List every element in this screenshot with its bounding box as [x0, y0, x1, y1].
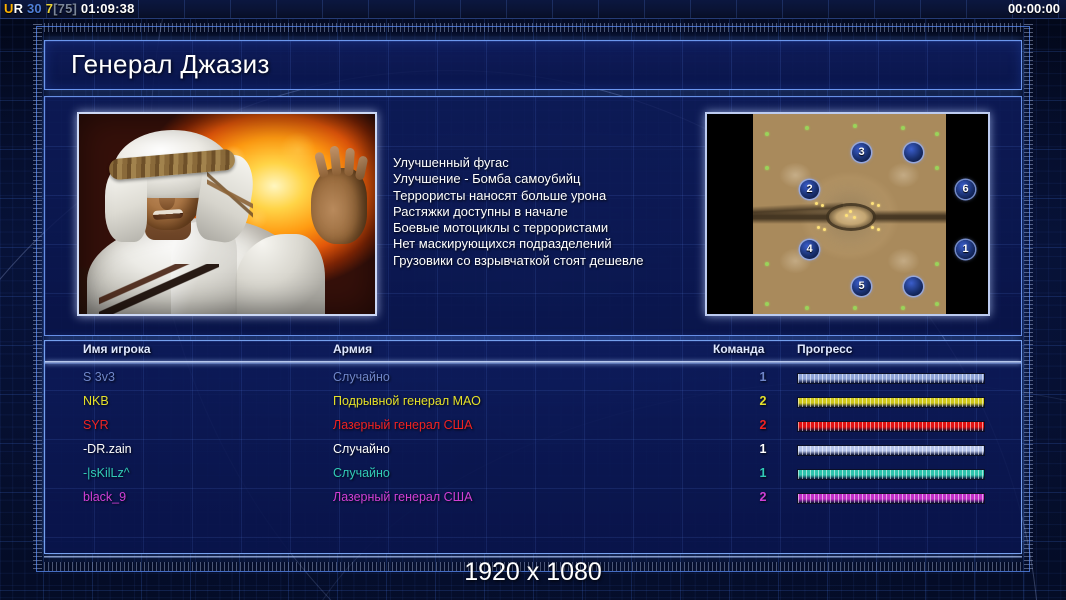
map-prop-tree	[765, 262, 769, 266]
map-preview-frame: 326415	[705, 112, 990, 316]
progress-stripes	[798, 494, 984, 503]
map-prop-resource	[853, 216, 856, 219]
bonus-line: Боевые мотоциклы с террористами	[393, 220, 723, 236]
general-portrait-image	[79, 114, 375, 314]
network-stats: UR 30 7[75] 01:09:38	[4, 1, 135, 16]
general-info-panel: Улучшенный фугасУлучшение - Бомба самоуб…	[44, 96, 1022, 336]
player-row[interactable]: black_9Лазерный генерал США2	[45, 487, 1021, 511]
column-header-progress: Прогресс	[797, 342, 852, 356]
ruler-left	[33, 24, 42, 569]
map-prop-resource	[823, 228, 826, 231]
progress-stripes	[798, 398, 984, 407]
player-team: 1	[745, 370, 781, 384]
status-bar: UR 30 7[75] 01:09:38 00:00:00	[0, 0, 1066, 19]
column-header-player: Имя игрока	[83, 342, 151, 356]
match-timer: 00:00:00	[1008, 1, 1060, 16]
map-start-position-6[interactable]: 6	[956, 180, 975, 199]
player-name: S 3v3	[83, 370, 115, 384]
stat-prefix-r: R	[14, 1, 24, 16]
player-army: Подрывной генерал МАО	[333, 394, 481, 408]
ruler-top	[44, 23, 1024, 32]
resolution-label: 1920 x 1080	[0, 558, 1066, 587]
player-army: Лазерный генерал США	[333, 490, 472, 504]
map-start-position-4[interactable]: 4	[800, 240, 819, 259]
map-prop-resource	[821, 204, 824, 207]
progress-stripes	[798, 470, 984, 479]
status-bar-gridlines	[0, 0, 1066, 18]
map-start-position-3[interactable]: 3	[852, 143, 871, 162]
bonus-line: Улучшенный фугас	[393, 155, 723, 171]
player-army: Лазерный генерал США	[333, 418, 472, 432]
player-army: Случайно	[333, 370, 390, 384]
player-row[interactable]: -DR.zainСлучайно1	[45, 439, 1021, 463]
player-progress-bar	[797, 421, 985, 432]
bonus-line: Грузовики со взрывчаткой стоят дешевле	[393, 253, 723, 269]
map-start-position-u7[interactable]	[904, 277, 923, 296]
header-divider	[45, 361, 1021, 364]
general-bonus-list: Улучшенный фугасУлучшение - Бомба самоуб…	[393, 155, 723, 269]
map-prop-resource	[871, 202, 874, 205]
progress-stripes	[798, 446, 984, 455]
bonus-line: Террористы наносят больше урона	[393, 188, 723, 204]
player-name: -DR.zain	[83, 442, 132, 456]
map-prop-tree	[901, 306, 905, 310]
map-start-position-u1[interactable]	[904, 143, 923, 162]
map-start-position-1[interactable]: 1	[956, 240, 975, 259]
map-prop-tree	[765, 132, 769, 136]
map-prop-resource	[877, 204, 880, 207]
map-prop-tree	[935, 302, 939, 306]
map-prop-resource	[815, 202, 818, 205]
map-prop-tree	[765, 166, 769, 170]
map-prop-resource	[849, 210, 852, 213]
player-list-panel: Имя игрока Армия Команда Прогресс S 3v3С…	[44, 340, 1022, 554]
map-prop-tree	[935, 262, 939, 266]
stat-fps-max: [75]	[53, 1, 77, 16]
player-name: -|sKilLz^	[83, 466, 130, 480]
portrait-vignette	[79, 114, 375, 314]
map-preview-image: 326415	[753, 114, 946, 316]
stat-ping: 30	[27, 1, 42, 16]
player-row[interactable]: SYRЛазерный генерал США2	[45, 415, 1021, 439]
player-progress-bar	[797, 445, 985, 456]
map-start-position-2[interactable]: 2	[800, 180, 819, 199]
map-prop-tree	[853, 306, 857, 310]
player-name: SYR	[83, 418, 109, 432]
map-prop-resource	[877, 228, 880, 231]
player-army: Случайно	[333, 442, 390, 456]
map-prop-resource	[845, 214, 848, 217]
map-prop-tree	[853, 124, 857, 128]
progress-stripes	[798, 422, 984, 431]
player-row[interactable]: -|sKilLz^Случайно1	[45, 463, 1021, 487]
player-name: black_9	[83, 490, 126, 504]
stat-fps: 7	[46, 1, 53, 16]
game-lobby-screen: UR 30 7[75] 01:09:38 00:00:00 Генерал Дж…	[0, 0, 1066, 600]
player-team: 1	[745, 466, 781, 480]
player-team: 2	[745, 394, 781, 408]
bonus-line: Нет маскирующихся подразделений	[393, 236, 723, 252]
player-army: Случайно	[333, 466, 390, 480]
column-header-team: Команда	[713, 342, 764, 356]
player-list-header: Имя игрока Армия Команда Прогресс	[45, 341, 1021, 361]
general-portrait-frame	[77, 112, 377, 316]
player-team: 2	[745, 490, 781, 504]
player-progress-bar	[797, 397, 985, 408]
player-progress-bar	[797, 493, 985, 504]
ruler-right	[1024, 24, 1033, 569]
progress-stripes	[798, 374, 984, 383]
stat-prefix-u: U	[4, 1, 14, 16]
page-title: Генерал Джазиз	[71, 49, 270, 80]
map-prop-tree	[805, 306, 809, 310]
map-prop-tree	[765, 302, 769, 306]
player-row[interactable]: S 3v3Случайно1	[45, 367, 1021, 391]
general-title-panel: Генерал Джазиз	[44, 40, 1022, 90]
footer: 1920 x 1080	[0, 556, 1066, 600]
map-prop-tree	[805, 126, 809, 130]
bonus-line: Улучшение - Бомба самоубийц	[393, 171, 723, 187]
player-progress-bar	[797, 373, 985, 384]
map-start-position-5[interactable]: 5	[852, 277, 871, 296]
player-team: 2	[745, 418, 781, 432]
player-progress-bar	[797, 469, 985, 480]
player-team: 1	[745, 442, 781, 456]
map-prop-tree	[935, 132, 939, 136]
map-prop-resource	[817, 226, 820, 229]
player-row[interactable]: NKBПодрывной генерал МАО2	[45, 391, 1021, 415]
column-header-army: Армия	[333, 342, 372, 356]
map-prop-tree	[935, 166, 939, 170]
player-name: NKB	[83, 394, 109, 408]
stat-clock: 01:09:38	[81, 1, 135, 16]
map-prop-tree	[901, 126, 905, 130]
bonus-line: Растяжки доступны в начале	[393, 204, 723, 220]
map-prop-resource	[871, 226, 874, 229]
